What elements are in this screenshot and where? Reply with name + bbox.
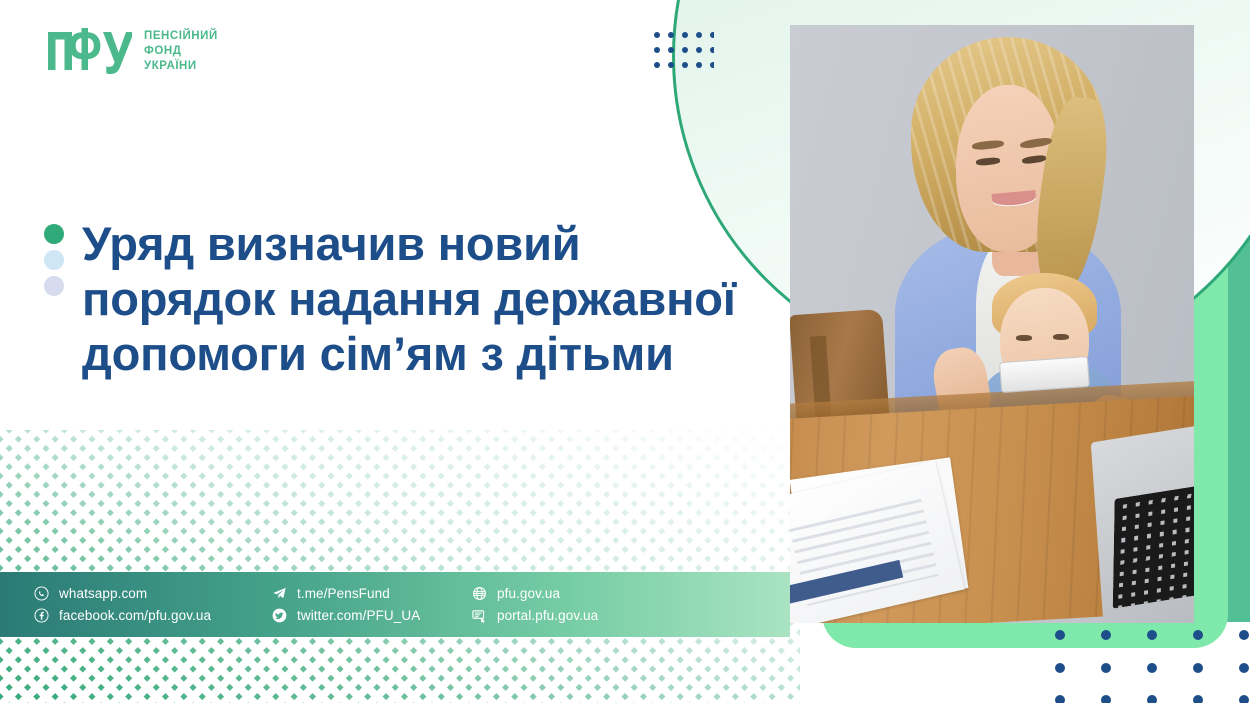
footer-link-twitter[interactable]: twitter.com/PFU_UA — [272, 608, 472, 623]
headline-block: Уряд визначив новий порядок надання держ… — [44, 216, 764, 381]
telegram-icon — [272, 586, 287, 601]
accent-dot-column — [44, 216, 64, 381]
footer-contact-bar: whatsapp.com facebook.com/pfu.gov.ua t.m… — [0, 572, 790, 637]
facebook-icon — [34, 608, 49, 623]
whatsapp-icon — [34, 586, 49, 601]
globe-icon — [472, 586, 487, 601]
poster-canvas: ПЕНСІЙНИЙ ФОНД УКРАЇНИ Уряд визначив нов… — [0, 0, 1250, 703]
dot-grid-bottom-right — [1055, 630, 1250, 703]
footer-link-label: facebook.com/pfu.gov.ua — [59, 608, 211, 623]
halftone-pattern — [0, 430, 800, 703]
footer-column-3: pfu.gov.ua portal.pfu.gov.ua — [472, 586, 672, 623]
footer-column-2: t.me/PensFund twitter.com/PFU_UA — [272, 586, 472, 623]
footer-link-label: t.me/PensFund — [297, 586, 390, 601]
footer-link-label: portal.pfu.gov.ua — [497, 608, 598, 623]
footer-link-label: pfu.gov.ua — [497, 586, 560, 601]
footer-link-portal[interactable]: portal.pfu.gov.ua — [472, 608, 672, 623]
brand-name: ПЕНСІЙНИЙ ФОНД УКРАЇНИ — [144, 29, 218, 74]
brand-name-line-2: ФОНД — [144, 44, 218, 59]
hero-photo — [790, 25, 1194, 623]
pfu-monogram-icon — [48, 28, 132, 74]
footer-link-label: twitter.com/PFU_UA — [297, 608, 420, 623]
footer-link-facebook[interactable]: facebook.com/pfu.gov.ua — [34, 608, 272, 623]
brand-name-line-3: УКРАЇНИ — [144, 59, 218, 74]
footer-link-telegram[interactable]: t.me/PensFund — [272, 586, 472, 601]
accent-dot-violet — [44, 276, 64, 296]
footer-link-website[interactable]: pfu.gov.ua — [472, 586, 672, 601]
dot-grid-top — [654, 32, 714, 70]
brand-name-line-1: ПЕНСІЙНИЙ — [144, 29, 218, 44]
footer-link-whatsapp[interactable]: whatsapp.com — [34, 586, 272, 601]
accent-dot-green — [44, 224, 64, 244]
accent-dot-blue — [44, 250, 64, 270]
footer-column-1: whatsapp.com facebook.com/pfu.gov.ua — [34, 586, 272, 623]
footer-link-label: whatsapp.com — [59, 586, 147, 601]
page-title: Уряд визначив новий порядок надання держ… — [82, 216, 764, 381]
twitter-icon — [272, 608, 287, 623]
portal-icon — [472, 608, 487, 623]
brand-logo[interactable]: ПЕНСІЙНИЙ ФОНД УКРАЇНИ — [48, 28, 218, 74]
